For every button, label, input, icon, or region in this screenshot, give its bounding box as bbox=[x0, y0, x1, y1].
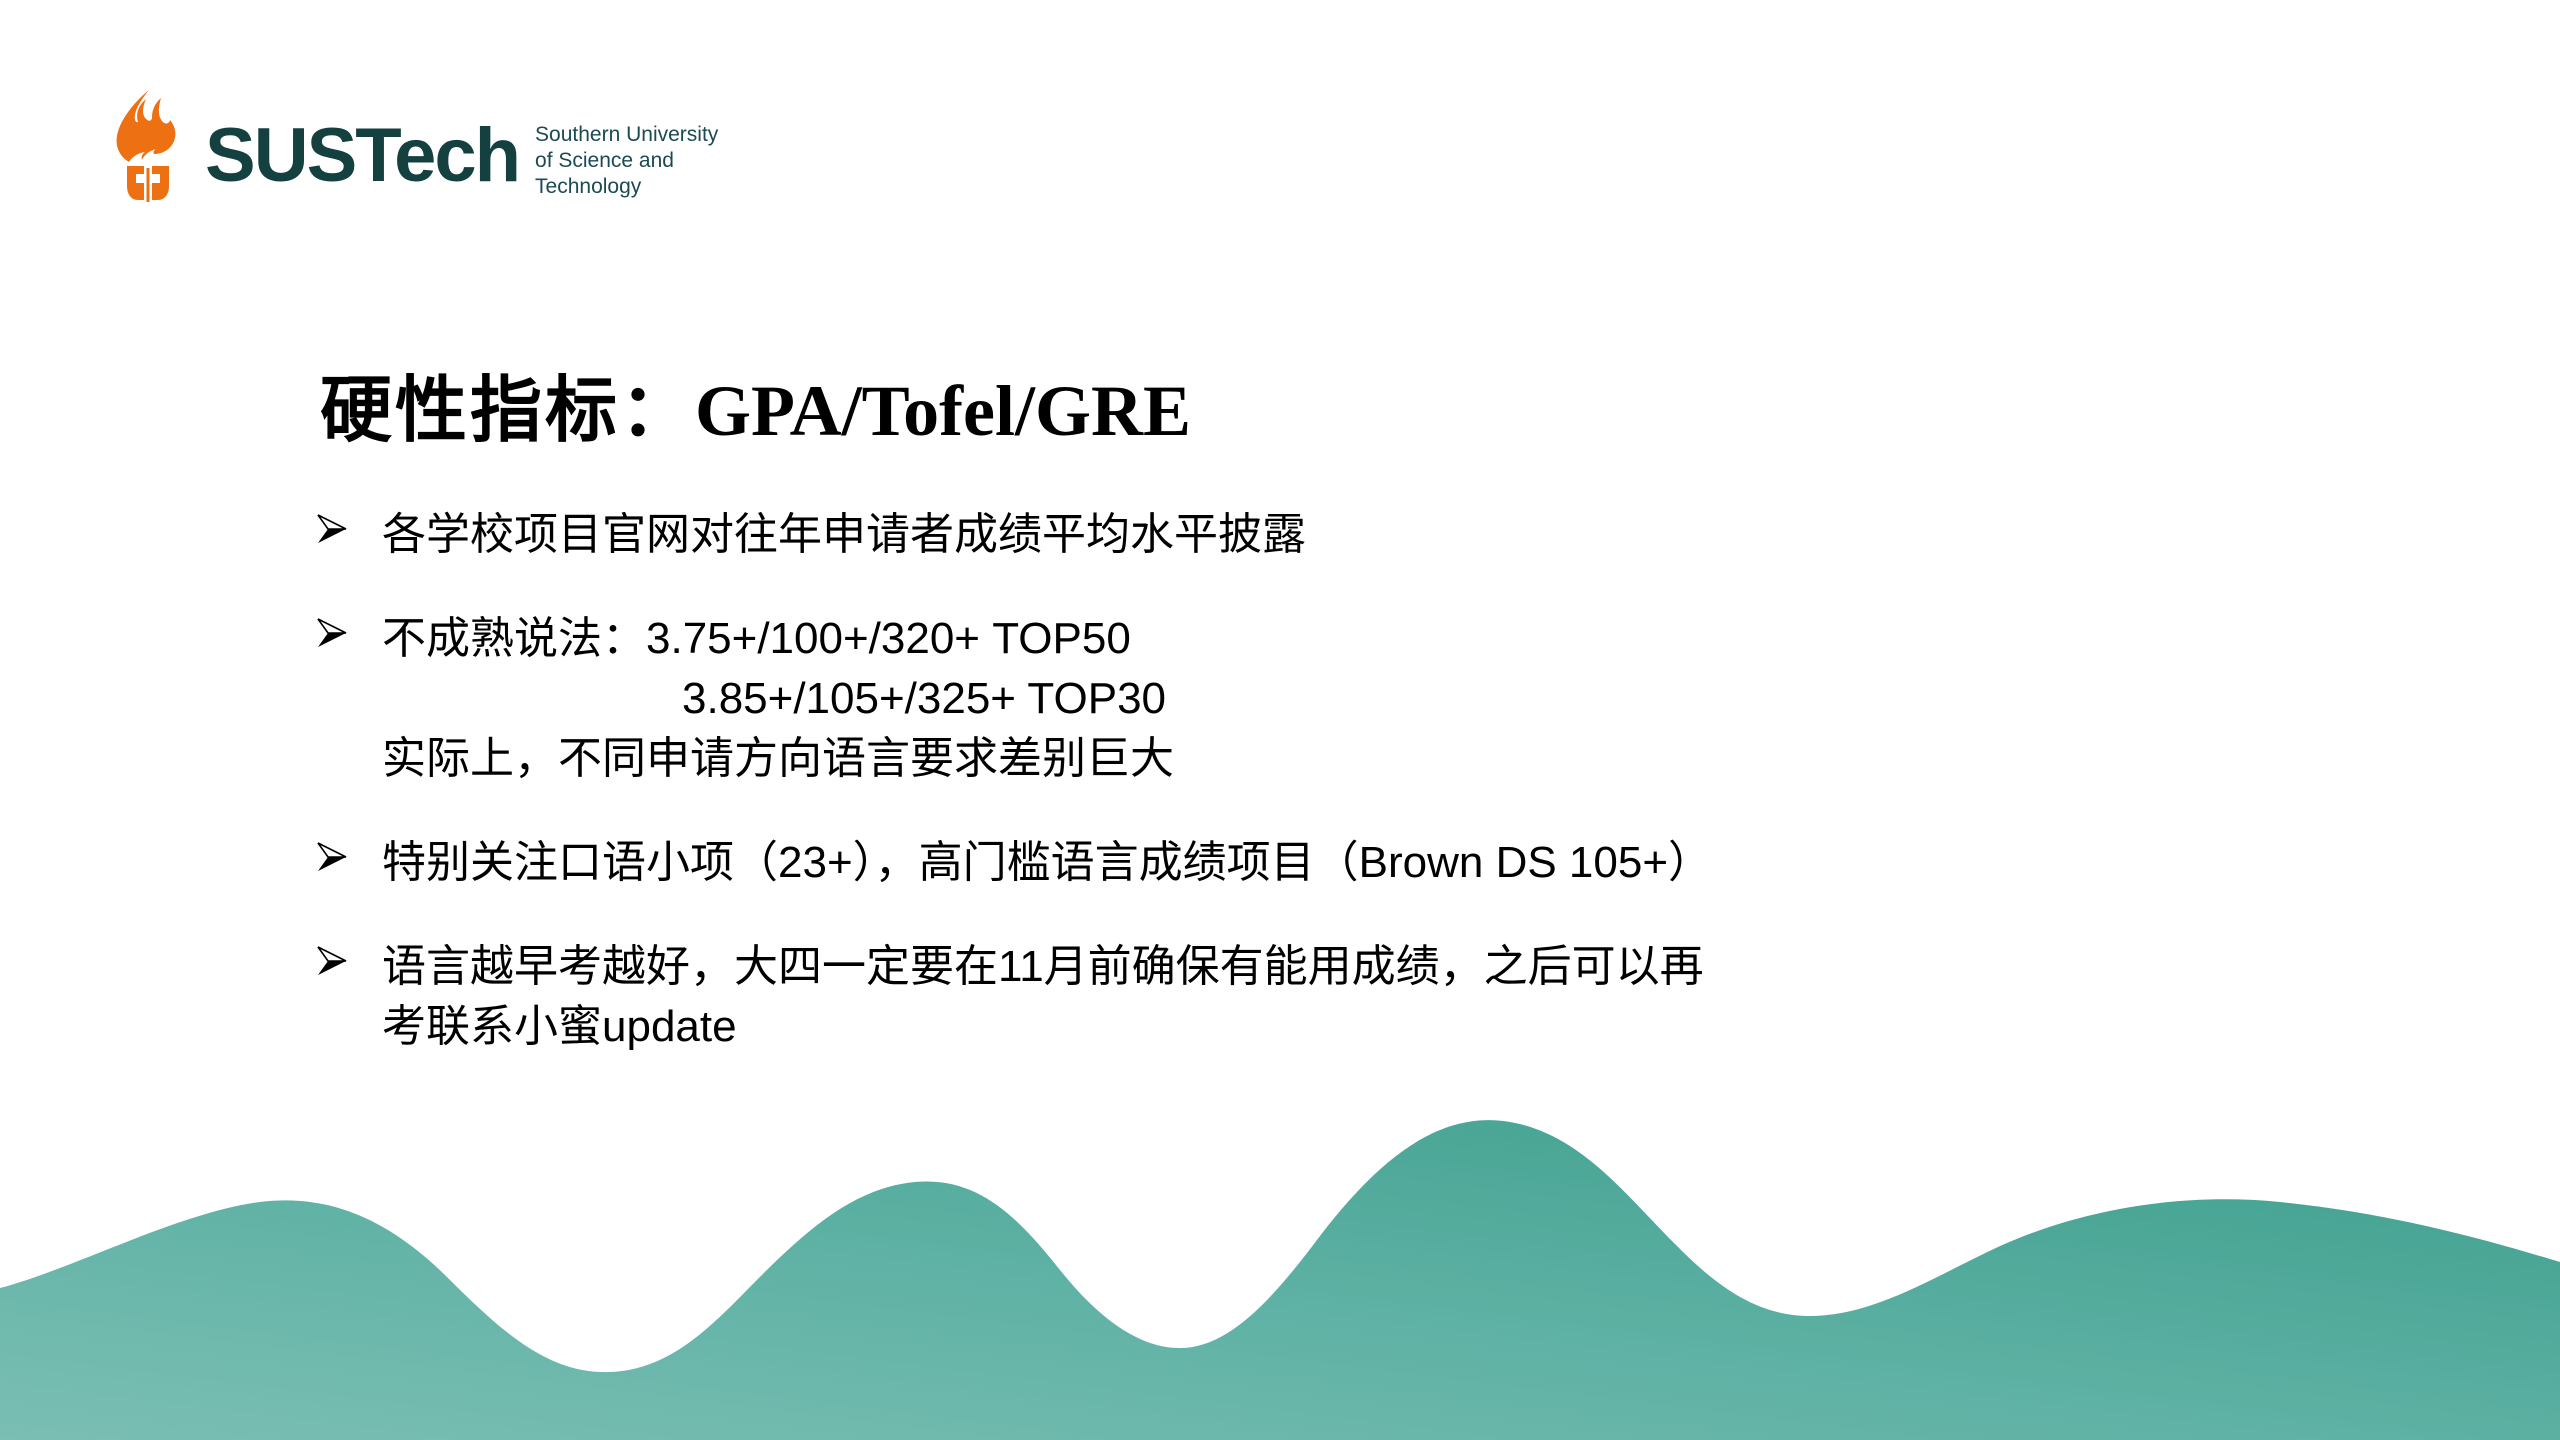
list-item-line: 特别关注口语小项（23+），高门槛语言成绩项目（Brown DS 105+） bbox=[382, 833, 2362, 893]
page-title: 硬性指标：GPA/Tofel/GRE bbox=[320, 368, 1191, 454]
sustech-logo: SUSTech Southern University of Science a… bbox=[105, 88, 718, 208]
list-item: 特别关注口语小项（23+），高门槛语言成绩项目（Brown DS 105+） bbox=[312, 833, 2362, 893]
logo-wordmark: SUSTech bbox=[205, 118, 519, 194]
arrow-bullet-icon bbox=[312, 613, 358, 659]
list-item-line: 实际上，不同申请方向语言要求差别巨大 bbox=[382, 729, 2362, 789]
list-item-line: 不成熟说法：3.75+/100+/320+ TOP50 bbox=[382, 609, 2362, 669]
bullet-list: 各学校项目官网对往年申请者成绩平均水平披露 不成熟说法：3.75+/100+/3… bbox=[312, 505, 2362, 1057]
logo-tagline: Southern University of Science and Techn… bbox=[535, 122, 718, 200]
list-item: 语言越早考越好，大四一定要在11月前确保有能用成绩，之后可以再 考联系小蜜upd… bbox=[312, 937, 2362, 1057]
arrow-bullet-icon bbox=[312, 837, 358, 883]
teal-wave-decoration bbox=[0, 1120, 2560, 1440]
list-item-line: 各学校项目官网对往年申请者成绩平均水平披露 bbox=[382, 505, 2362, 565]
list-item: 各学校项目官网对往年申请者成绩平均水平披露 bbox=[312, 505, 2362, 565]
arrow-bullet-icon bbox=[312, 509, 358, 555]
list-item: 不成熟说法：3.75+/100+/320+ TOP50 3.85+/105+/3… bbox=[312, 609, 2362, 789]
logo-tagline-line-1: Southern University bbox=[535, 122, 718, 148]
list-item-line: 语言越早考越好，大四一定要在11月前确保有能用成绩，之后可以再 bbox=[382, 937, 2362, 997]
arrow-bullet-icon bbox=[312, 941, 358, 987]
list-item-line: 考联系小蜜update bbox=[382, 997, 2362, 1057]
torch-flame-icon bbox=[105, 88, 191, 204]
list-item-line: 3.85+/105+/325+ TOP30 bbox=[382, 669, 2362, 729]
slide-canvas: SUSTech Southern University of Science a… bbox=[0, 0, 2560, 1440]
page-title-chinese: 硬性指标： bbox=[320, 371, 695, 451]
logo-wordmark-sus: SUS bbox=[205, 113, 355, 198]
logo-tagline-line-3: Technology bbox=[535, 174, 718, 200]
logo-tagline-line-2: of Science and bbox=[535, 148, 718, 174]
page-title-english: GPA/Tofel/GRE bbox=[695, 371, 1191, 451]
logo-wordmark-tech: Tech bbox=[355, 113, 519, 198]
